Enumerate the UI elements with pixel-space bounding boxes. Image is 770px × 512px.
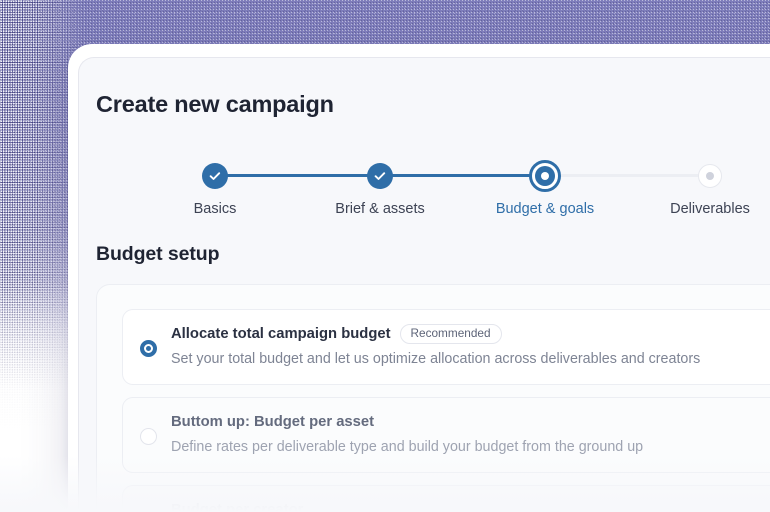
stepper-segment-1: [215, 174, 380, 177]
budget-option-title: Budget per creator: [171, 502, 303, 512]
budget-option-body: Buttom up: Budget per asset Define rates…: [171, 412, 770, 455]
budget-option-description: Define rates per deliverable type and bu…: [171, 439, 770, 455]
budget-option-body: Allocate total campaign budget Recommend…: [171, 324, 770, 367]
stepper-label-budget-goals[interactable]: Budget & goals: [496, 201, 594, 217]
check-icon: [367, 163, 393, 189]
budget-option-body: Budget per creator: [171, 500, 770, 512]
stepper-label-deliverables[interactable]: Deliverables: [670, 201, 750, 217]
budget-option-title: Buttom up: Budget per asset: [171, 414, 374, 430]
section-title-budget-setup: Budget setup: [96, 243, 219, 266]
radio-icon-selected[interactable]: [140, 340, 157, 357]
screenshot-stage: Create new campaign Basics: [0, 0, 770, 512]
budget-setup-card: Allocate total campaign budget Recommend…: [96, 284, 770, 512]
budget-option-per-asset[interactable]: Buttom up: Budget per asset Define rates…: [122, 397, 770, 473]
stepper-segment-3: [545, 174, 710, 177]
radio-icon-unselected[interactable]: [140, 428, 157, 445]
check-icon: [202, 163, 228, 189]
stepper-label-brief-assets[interactable]: Brief & assets: [335, 201, 424, 217]
dot-icon: [535, 166, 555, 186]
stepper-node-deliverables[interactable]: [694, 160, 726, 192]
stepper-segment-2: [380, 174, 545, 177]
budget-option-per-creator[interactable]: Budget per creator: [122, 485, 770, 512]
app-panel: Create new campaign Basics: [78, 57, 770, 512]
campaign-stepper: Basics Brief & assets Budget & goals: [79, 152, 770, 212]
budget-option-title: Allocate total campaign budget: [171, 326, 391, 342]
current-step-ring-icon: [529, 160, 561, 192]
dot-icon: [698, 164, 722, 188]
budget-option-header: Budget per creator: [171, 500, 770, 512]
stepper-label-basics[interactable]: Basics: [194, 201, 237, 217]
budget-option-total-campaign[interactable]: Allocate total campaign budget Recommend…: [122, 309, 770, 385]
budget-option-header: Buttom up: Budget per asset: [171, 412, 770, 432]
budget-option-header: Allocate total campaign budget Recommend…: [171, 324, 770, 344]
stepper-node-basics[interactable]: [199, 160, 231, 192]
budget-option-description: Set your total budget and let us optimiz…: [171, 351, 770, 367]
stepper-track: [215, 174, 710, 177]
page-title: Create new campaign: [96, 91, 334, 118]
dot-icon-center: [706, 172, 714, 180]
stepper-node-budget-goals[interactable]: [529, 160, 561, 192]
stepper-node-brief-assets[interactable]: [364, 160, 396, 192]
recommended-badge: Recommended: [400, 324, 502, 345]
dot-icon-center: [541, 172, 549, 180]
